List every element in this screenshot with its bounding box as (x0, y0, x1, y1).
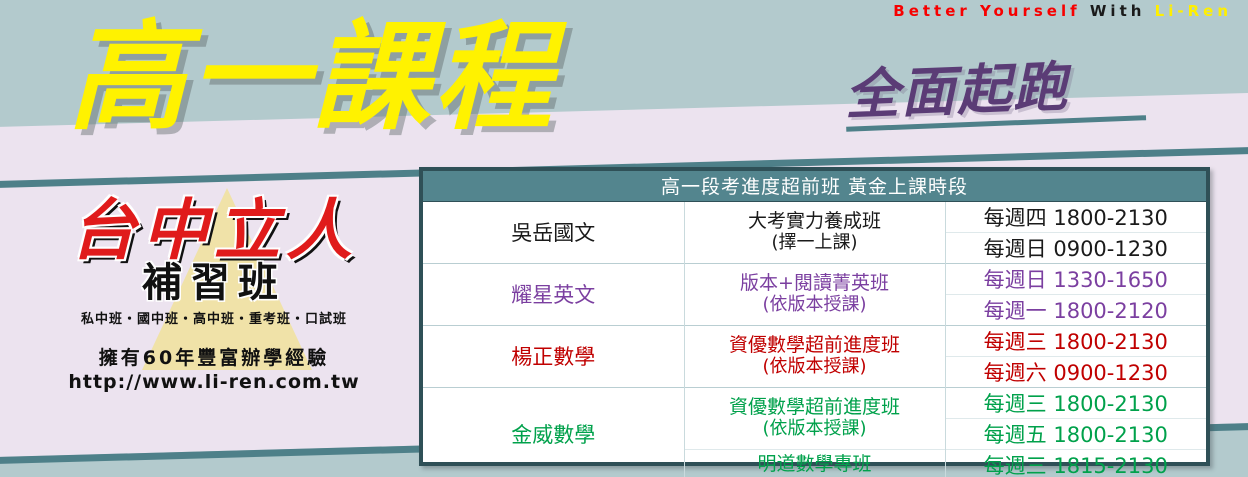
tagline-part-3: Li-Ren (1155, 2, 1232, 20)
class-time-cell: 每週三 1800-2130 (945, 325, 1206, 356)
table-header-row: 高一段考進度超前班 黃金上課時段 (423, 171, 1206, 201)
schedule-table-body: 吳岳國文大考實力養成班(擇一上課)每週四 1800-2130每週日 0900-1… (423, 201, 1206, 477)
table-row: 金威數學資優數學超前進度班(依版本授課)每週三 1800-2130 (423, 387, 1206, 418)
teacher-name-cell: 吳岳國文 (423, 201, 684, 263)
logo-website-url: http://www.li-ren.com.tw (24, 371, 404, 393)
table-row: 楊正數學資優數學超前進度班(依版本授課)每週三 1800-2130 (423, 325, 1206, 356)
class-time-cell: 每週四 1800-2130 (945, 201, 1206, 232)
schedule-table-container: 高一段考進度超前班 黃金上課時段 吳岳國文大考實力養成班(擇一上課)每週四 18… (419, 167, 1210, 466)
page-title: 高一課程 (68, 8, 556, 147)
course-name-cell: 資優數學超前進度班(依版本授課) (684, 325, 945, 387)
teacher-name-cell: 耀星英文 (423, 263, 684, 325)
schedule-table-title: 高一段考進度超前班 黃金上課時段 (423, 171, 1206, 201)
logo-experience: 擁有60年豐富辦學經驗 (24, 343, 404, 370)
table-row: 吳岳國文大考實力養成班(擇一上課)每週四 1800-2130 (423, 201, 1206, 232)
table-row: 耀星英文版本+閱讀菁英班(依版本授課)每週日 1330-1650 (423, 263, 1206, 294)
course-title: 資優數學超前進度班 (729, 396, 900, 418)
class-time-cell: 每週日 0900-1230 (945, 232, 1206, 263)
course-name-cell: 明道數學專班 (684, 449, 945, 477)
course-title: 大考實力養成班 (748, 210, 881, 232)
schedule-table-head: 高一段考進度超前班 黃金上課時段 (423, 171, 1206, 201)
page-subtitle-group: 全面起跑 (844, 56, 1146, 131)
page-subtitle: 全面起跑 (844, 56, 1146, 124)
course-title: 資優數學超前進度班 (729, 334, 900, 356)
class-time-cell: 每週日 1330-1650 (945, 263, 1206, 294)
tagline-part-2: With (1090, 2, 1146, 20)
logo-categories: 私中班・國中班・高中班・重考班・口試班 (24, 308, 404, 327)
course-note: (依版本授課) (685, 357, 945, 377)
class-time-cell: 每週五 1800-2130 (945, 418, 1206, 449)
class-time-cell: 每週三 1815-2130 (945, 449, 1206, 477)
course-note: (依版本授課) (685, 295, 945, 315)
course-title: 明道數學專班 (757, 453, 871, 475)
logo-name: 台中立人 (24, 196, 404, 265)
tagline: Better Yourself With Li-Ren (893, 2, 1232, 20)
class-time-cell: 每週三 1800-2130 (945, 387, 1206, 418)
course-note: (依版本授課) (685, 419, 945, 439)
course-note: (擇一上課) (685, 233, 945, 253)
course-title: 版本+閱讀菁英班 (740, 272, 889, 294)
course-name-cell: 版本+閱讀菁英班(依版本授課) (684, 263, 945, 325)
class-time-cell: 每週六 0900-1230 (945, 356, 1206, 387)
brand-logo: 台中立人 補習班 私中班・國中班・高中班・重考班・口試班 擁有60年豐富辦學經驗… (24, 196, 404, 393)
teacher-name-cell: 金威數學 (423, 387, 684, 477)
teacher-name-cell: 楊正數學 (423, 325, 684, 387)
course-name-cell: 資優數學超前進度班(依版本授課) (684, 387, 945, 449)
schedule-table: 高一段考進度超前班 黃金上課時段 吳岳國文大考實力養成班(擇一上課)每週四 18… (423, 171, 1206, 477)
poster-canvas: Better Yourself With Li-Ren 高一課程 全面起跑 台中… (0, 0, 1248, 477)
course-name-cell: 大考實力養成班(擇一上課) (684, 201, 945, 263)
class-time-cell: 每週一 1800-2120 (945, 294, 1206, 325)
tagline-part-1: Better Yourself (893, 2, 1080, 20)
